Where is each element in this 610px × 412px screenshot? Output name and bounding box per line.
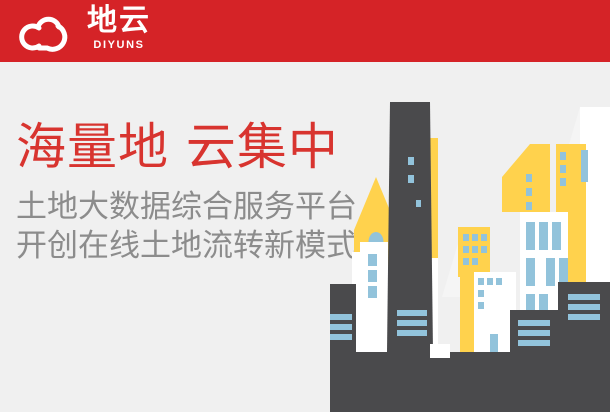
- hero-subline-1: 土地大数据综合服务平台: [16, 188, 366, 227]
- hero-text-block: 海量地 云集中 土地大数据综合服务平台 开创在线土地流转新模式: [16, 118, 366, 266]
- window-stripe: [330, 314, 352, 320]
- window-stripe: [518, 320, 550, 326]
- window-vertical: [559, 258, 568, 286]
- hero-headline: 海量地 云集中: [16, 118, 366, 176]
- window-stripe: [568, 314, 600, 320]
- window-dot: [463, 234, 469, 241]
- window-dot: [472, 258, 478, 265]
- brand-name-en: DIYUNS: [93, 39, 144, 51]
- brand-wordmark: 地云 DIYUNS: [87, 5, 151, 51]
- window-stripe: [397, 320, 427, 326]
- window-square: [368, 270, 377, 282]
- window-dot: [560, 178, 566, 186]
- window-dot: [487, 278, 493, 285]
- window-stripe: [518, 340, 550, 346]
- window-vertical: [539, 222, 548, 250]
- window-dot: [526, 174, 532, 182]
- window-dot: [463, 246, 469, 253]
- hero-subline-2: 开创在线土地流转新模式: [16, 227, 366, 266]
- window-vertical: [526, 222, 535, 250]
- site-header: 地云 DIYUNS: [0, 0, 610, 62]
- cloud-logo-mark: [17, 8, 81, 54]
- promo-banner: 地云 DIYUNS 海量地 云集中 土地大数据综合服务平台 开创在线土地流转新模…: [0, 0, 610, 412]
- window-stripe: [568, 294, 600, 300]
- window-dot: [526, 202, 532, 210]
- white-angled-tower-bevel: [442, 237, 460, 297]
- window-dot: [472, 234, 478, 241]
- window-stripe: [330, 324, 352, 330]
- window-vertical: [581, 150, 588, 182]
- window-dot: [560, 152, 566, 160]
- window-dot: [526, 188, 532, 196]
- window-square: [368, 254, 377, 266]
- white-gap-filler: [430, 344, 450, 358]
- window-stripe: [568, 304, 600, 310]
- city-skyline-illustration: [330, 62, 610, 412]
- window-square: [368, 286, 377, 298]
- window-dot: [478, 302, 484, 309]
- window-dot: [481, 234, 487, 241]
- window-vertical: [546, 258, 555, 286]
- window-dot: [481, 246, 487, 253]
- window-dot: [478, 290, 484, 297]
- window-stripe: [397, 310, 427, 316]
- window-dot: [478, 278, 484, 285]
- window-dot: [496, 278, 502, 285]
- window-stripe: [397, 330, 427, 336]
- window-dot: [463, 258, 469, 265]
- window-dot: [408, 157, 414, 165]
- window-vertical: [552, 222, 561, 250]
- window-stripe: [518, 330, 550, 336]
- window-stripe: [330, 334, 352, 340]
- ground-strip: [330, 352, 610, 412]
- window-vertical: [526, 258, 535, 286]
- window-dot: [408, 175, 414, 183]
- window-dot: [560, 165, 566, 173]
- window-dot: [416, 200, 421, 207]
- window-dot: [472, 246, 478, 253]
- brand-logo[interactable]: 地云 DIYUNS: [17, 5, 151, 57]
- brand-name-cn: 地云: [87, 5, 151, 37]
